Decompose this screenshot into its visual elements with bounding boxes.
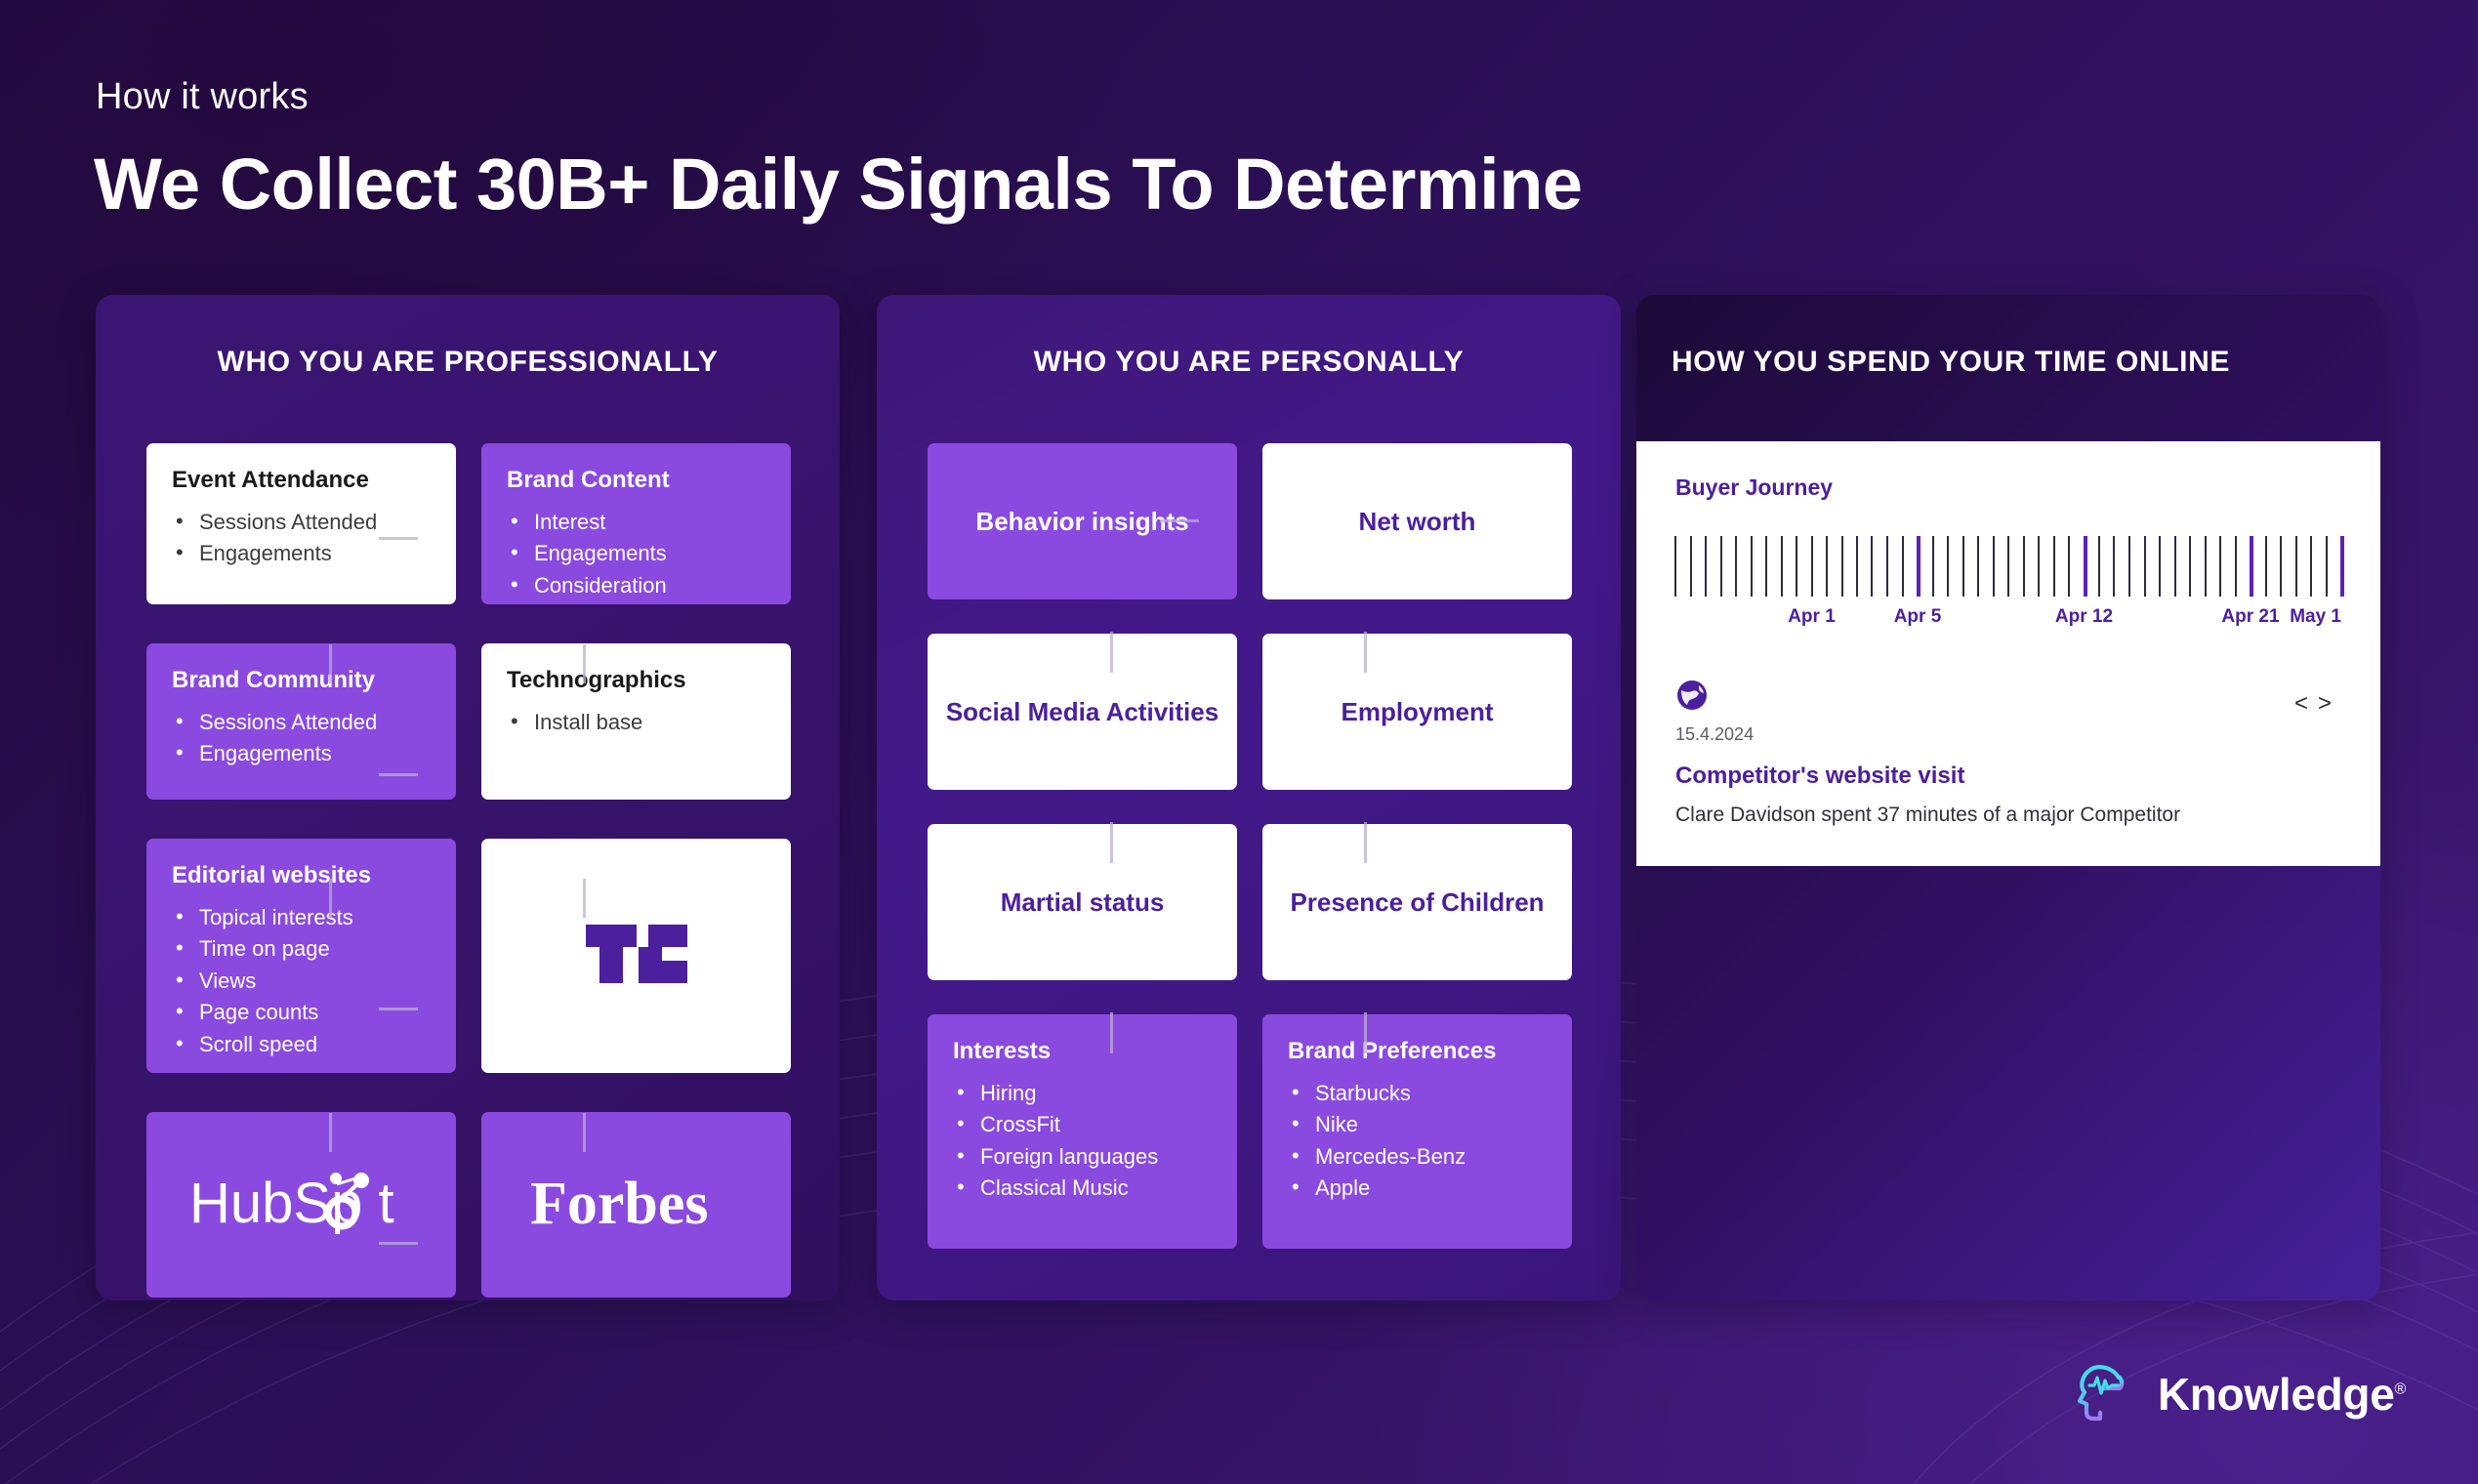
timeline-tick — [2280, 536, 2282, 597]
connector — [583, 879, 586, 918]
timeline-axis-labels: Apr 1Apr 5Apr 12Apr 21May 1 — [1675, 606, 2341, 636]
timeline-label: Apr 21 — [2221, 606, 2279, 628]
timeline-tick — [2174, 536, 2176, 597]
brand-name: Knowledge® — [2158, 1368, 2406, 1421]
connector — [583, 644, 586, 683]
buyer-journey-timeline[interactable] — [1675, 536, 2341, 597]
card-list: Sessions Attended Engagements — [172, 707, 431, 770]
timeline-tick — [1705, 536, 1707, 597]
list-item: Views — [172, 966, 431, 998]
event-description: Clare Davidson spent 37 minutes of a maj… — [1675, 804, 2341, 827]
timeline-tick — [1932, 536, 1934, 597]
timeline-tick — [2159, 536, 2161, 597]
brand-logo: Knowledge® — [2068, 1356, 2406, 1431]
timeline-tick — [2053, 536, 2055, 597]
connector — [379, 773, 418, 776]
timeline-tick — [1765, 536, 1767, 597]
card-presence-of-children[interactable]: Presence of Children — [1262, 824, 1572, 980]
panel-how-you-spend-your-time-online: HOW YOU SPEND YOUR TIME ONLINE Buyer Jou… — [1636, 295, 2380, 1300]
list-item: Nike — [1288, 1109, 1547, 1141]
event-title: Competitor's website visit — [1675, 763, 2341, 790]
timeline-tick — [1720, 536, 1722, 597]
card-title: Employment — [1329, 684, 1505, 740]
timeline-tick-highlighted — [2250, 536, 2253, 597]
timeline-tick — [2144, 536, 2146, 597]
card-hubspot-logo[interactable]: HubSp t — [146, 1112, 456, 1298]
list-item: CrossFit — [953, 1109, 1212, 1141]
list-item: Mercedes-Benz — [1288, 1141, 1547, 1174]
card-title: Event Attendance — [172, 467, 431, 495]
timeline-tick — [2128, 536, 2130, 597]
connector — [1110, 632, 1113, 673]
timeline-tick — [1796, 536, 1797, 597]
connector — [329, 879, 332, 918]
card-brand-preferences[interactable]: Brand Preferences Starbucks Nike Mercede… — [1262, 1014, 1572, 1249]
card-brand-community[interactable]: Brand Community Sessions Attended Engage… — [146, 643, 456, 800]
timeline-tick — [1962, 536, 1964, 597]
card-list: Starbucks Nike Mercedes-Benz Apple — [1288, 1078, 1547, 1205]
timeline-tick — [2068, 536, 2070, 597]
card-title: Interests — [953, 1038, 1212, 1066]
connector — [1364, 822, 1367, 863]
connector — [1110, 1012, 1113, 1053]
card-title: Social Media Activities — [934, 684, 1230, 740]
card-social-media-activities[interactable]: Social Media Activities — [928, 634, 1237, 790]
timeline-label: May 1 — [2290, 606, 2341, 628]
timeline-tick — [2205, 536, 2207, 597]
head-pulse-icon — [2068, 1356, 2138, 1431]
timeline-tick-highlighted — [1917, 536, 1920, 597]
timeline-tick — [2189, 536, 2191, 597]
card-title: Technographics — [507, 667, 765, 695]
list-item: Scroll speed — [172, 1029, 431, 1061]
timeline-tick — [1674, 536, 1676, 597]
card-martial-status[interactable]: Martial status — [928, 824, 1237, 980]
connector — [379, 1008, 418, 1010]
techcrunch-logo-icon — [578, 915, 695, 998]
list-item: Engagements — [172, 538, 431, 570]
timeline-label: Apr 5 — [1894, 606, 1942, 628]
panel-who-you-are-personally: WHO YOU ARE PERSONALLY Behavior insights… — [877, 295, 1621, 1300]
card-forbes-logo[interactable]: Forbes — [481, 1112, 791, 1298]
timeline-tick — [1841, 536, 1843, 597]
card-title: Editorial websites — [172, 862, 431, 890]
card-net-worth[interactable]: Net worth — [1262, 443, 1572, 599]
timeline-tick — [1856, 536, 1858, 597]
timeline-tick — [2235, 536, 2237, 597]
list-item: Apple — [1288, 1173, 1547, 1205]
connector — [329, 1113, 332, 1152]
globe-icon — [1675, 679, 1709, 712]
timeline-tick — [1781, 536, 1783, 597]
prev-event-button[interactable]: < — [2294, 690, 2318, 717]
list-item: Foreign languages — [953, 1141, 1212, 1174]
connector — [1364, 632, 1367, 673]
page-title: We Collect 30B+ Daily Signals To Determi… — [94, 146, 1583, 223]
buyer-journey-widget: Buyer Journey Apr 1Apr 5Apr 12Apr 21May … — [1636, 441, 2380, 866]
timeline-label: Apr 1 — [1788, 606, 1836, 628]
timeline-tick — [1902, 536, 1904, 597]
connector — [583, 1113, 586, 1152]
timeline-tick — [1993, 536, 1995, 597]
event-date: 15.4.2024 — [1675, 724, 2341, 745]
timeline-tick — [1811, 536, 1813, 597]
timeline-tick — [2310, 536, 2312, 597]
journey-event: <> 15.4.2024 Competitor's website visit … — [1675, 679, 2341, 827]
list-item: Engagements — [507, 538, 765, 570]
card-technographics[interactable]: Technographics Install base — [481, 643, 791, 800]
connector — [329, 644, 332, 683]
card-title: Brand Content — [507, 467, 765, 495]
timeline-tick — [1826, 536, 1828, 597]
card-list: Hiring CrossFit Foreign languages Classi… — [953, 1078, 1212, 1205]
event-pager[interactable]: <> — [2294, 690, 2341, 718]
timeline-tick — [2295, 536, 2297, 597]
list-item: Sessions Attended — [172, 707, 431, 739]
list-item: Page counts — [172, 997, 431, 1029]
list-item: Install base — [507, 707, 765, 739]
timeline-tick — [2007, 536, 2009, 597]
timeline-tick — [2326, 536, 2328, 597]
timeline-tick — [1947, 536, 1949, 597]
connector — [1364, 1012, 1367, 1053]
timeline-tick — [1886, 536, 1888, 597]
card-title: Brand Community — [172, 667, 431, 695]
panel-title-personal: WHO YOU ARE PERSONALLY — [877, 295, 1621, 379]
connector — [379, 1242, 418, 1245]
card-techcrunch-logo[interactable] — [481, 839, 791, 1073]
card-interests[interactable]: Interests Hiring CrossFit Foreign langua… — [928, 1014, 1237, 1249]
timeline-tick — [1690, 536, 1692, 597]
timeline-tick — [2038, 536, 2040, 597]
timeline-tick — [1735, 536, 1737, 597]
card-event-attendance[interactable]: Event Attendance Sessions Attended Engag… — [146, 443, 456, 604]
registered-mark: ® — [2395, 1381, 2407, 1397]
list-item: Consideration — [507, 570, 765, 602]
card-title: Martial status — [989, 875, 1177, 930]
card-title: Brand Preferences — [1288, 1038, 1547, 1066]
timeline-label: Apr 12 — [2055, 606, 2113, 628]
eyebrow-text: How it works — [96, 76, 309, 118]
connector — [379, 537, 418, 540]
list-item: Hiring — [953, 1078, 1212, 1110]
timeline-tick — [1751, 536, 1753, 597]
timeline-tick — [1977, 536, 1979, 597]
timeline-tick — [1871, 536, 1873, 597]
hubspot-logo-icon: HubSp t — [189, 1166, 414, 1245]
timeline-tick — [2098, 536, 2100, 597]
card-list: Topical interests Time on page Views Pag… — [172, 902, 431, 1061]
list-item: Time on page — [172, 933, 431, 966]
svg-text:Forbes: Forbes — [530, 1171, 709, 1237]
panel-who-you-are-professionally: WHO YOU ARE PROFESSIONALLY Event Attenda… — [96, 295, 840, 1300]
connector — [1110, 822, 1113, 863]
list-item: Classical Music — [953, 1173, 1212, 1205]
card-list: Interest Engagements Consideration — [507, 507, 765, 602]
card-brand-content[interactable]: Brand Content Interest Engagements Consi… — [481, 443, 791, 604]
list-item: Topical interests — [172, 902, 431, 934]
list-item: Interest — [507, 507, 765, 539]
panel-title-online: HOW YOU SPEND YOUR TIME ONLINE — [1636, 295, 2380, 379]
timeline-tick — [2265, 536, 2267, 597]
timeline-tick — [2113, 536, 2115, 597]
timeline-tick-highlighted — [2084, 536, 2087, 597]
card-employment[interactable]: Employment — [1262, 634, 1572, 790]
connector — [1160, 519, 1199, 522]
list-item: Starbucks — [1288, 1078, 1547, 1110]
forbes-logo-icon: Forbes — [524, 1167, 749, 1244]
card-list: Install base — [507, 707, 765, 739]
list-item: Sessions Attended — [172, 507, 431, 539]
card-title: Presence of Children — [1278, 875, 1555, 930]
card-title: Net worth — [1347, 494, 1488, 550]
list-item: Engagements — [172, 738, 431, 770]
card-editorial-websites[interactable]: Editorial websites Topical interests Tim… — [146, 839, 456, 1073]
widget-title: Buyer Journey — [1675, 474, 2341, 501]
timeline-tick — [2023, 536, 2025, 597]
next-event-button[interactable]: > — [2318, 690, 2341, 717]
timeline-tick — [2219, 536, 2221, 597]
timeline-tick-highlighted — [2340, 536, 2344, 597]
panel-title-professional: WHO YOU ARE PROFESSIONALLY — [96, 295, 840, 379]
